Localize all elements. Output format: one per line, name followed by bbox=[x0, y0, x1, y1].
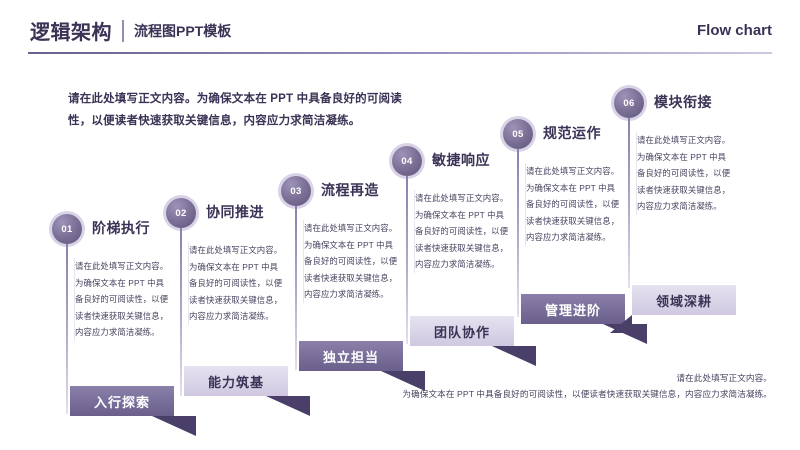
ribbon-bar: 入行探索 bbox=[70, 386, 174, 416]
step-body-card: 请在此处填写正文内容。为确保文本在 PPT 中具备良好的可阅读性，以便读者快速获… bbox=[525, 163, 622, 246]
step-ribbon-05[interactable]: 管理进阶 bbox=[521, 294, 625, 324]
header-right-label: Flow chart bbox=[697, 22, 772, 39]
step-body-card: 请在此处填写正文内容。为确保文本在 PPT 中具备良好的可阅读性，以便读者快速获… bbox=[74, 258, 171, 341]
header-divider bbox=[122, 20, 124, 42]
step-number-label: 01 bbox=[61, 224, 72, 235]
step-title: 流程再造 bbox=[321, 180, 379, 200]
step-number-label: 04 bbox=[401, 156, 412, 167]
page-subtitle: 流程图PPT模板 bbox=[134, 21, 231, 41]
step-connector-stem bbox=[295, 206, 297, 370]
header-rule bbox=[28, 52, 772, 54]
step-number-badge[interactable]: 05 bbox=[503, 119, 533, 149]
step-connector-stem bbox=[66, 244, 68, 414]
step-ribbon-04[interactable]: 团队协作 bbox=[410, 316, 514, 346]
ribbon-bar: 能力筑基 bbox=[184, 366, 288, 396]
ribbon-bar: 独立担当 bbox=[299, 341, 403, 371]
step-number-label: 02 bbox=[175, 208, 186, 219]
step-title: 阶梯执行 bbox=[92, 218, 150, 238]
ribbon-label: 能力筑基 bbox=[208, 372, 264, 391]
step-connector-stem bbox=[628, 118, 630, 288]
step-number-label: 03 bbox=[290, 186, 301, 197]
step-body-card: 请在此处填写正文内容。为确保文本在 PPT 中具备良好的可阅读性，以便读者快速获… bbox=[303, 220, 400, 303]
footnote-line-2: 为确保文本在 PPT 中具备良好的可阅读性，以便读者快速获取关键信息，内容应力求… bbox=[402, 388, 772, 400]
step-title: 规范运作 bbox=[543, 123, 601, 143]
step-number-badge[interactable]: 03 bbox=[281, 176, 311, 206]
ribbon-bar: 管理进阶 bbox=[521, 294, 625, 324]
step-connector-stem bbox=[180, 228, 182, 396]
step-title: 模块衔接 bbox=[654, 92, 712, 112]
step-body-card: 请在此处填写正文内容。为确保文本在 PPT 中具备良好的可阅读性，以便读者快速获… bbox=[414, 190, 511, 273]
step-body-text: 请在此处填写正文内容。为确保文本在 PPT 中具备良好的可阅读性，以便读者快速获… bbox=[637, 132, 733, 215]
ribbon-fold bbox=[492, 346, 536, 366]
step-number-label: 05 bbox=[512, 129, 523, 140]
step-body-text: 请在此处填写正文内容。为确保文本在 PPT 中具备良好的可阅读性，以便读者快速获… bbox=[304, 220, 400, 303]
step-title: 敏捷响应 bbox=[432, 150, 490, 170]
step-number-badge[interactable]: 06 bbox=[614, 88, 644, 118]
ribbon-label: 团队协作 bbox=[434, 322, 490, 341]
step-number-badge[interactable]: 02 bbox=[166, 198, 196, 228]
ribbon-label: 入行探索 bbox=[94, 392, 150, 411]
step-number-badge[interactable]: 04 bbox=[392, 146, 422, 176]
step-ribbon-02[interactable]: 能力筑基 bbox=[184, 366, 288, 396]
step-body-card: 请在此处填写正文内容。为确保文本在 PPT 中具备良好的可阅读性，以便读者快速获… bbox=[188, 242, 285, 325]
footnote-line-1: 请在此处填写正文内容。 bbox=[676, 372, 772, 384]
step-body-card: 请在此处填写正文内容。为确保文本在 PPT 中具备良好的可阅读性，以便读者快速获… bbox=[636, 132, 733, 215]
header-title-group: 逻辑架构 流程图PPT模板 bbox=[30, 16, 231, 45]
step-ribbon-06[interactable]: 领域深耕 bbox=[632, 285, 736, 315]
step-ribbon-01[interactable]: 入行探索 bbox=[70, 386, 174, 416]
step-number-label: 06 bbox=[623, 98, 634, 109]
step-connector-stem bbox=[406, 176, 408, 344]
ribbon-fold bbox=[152, 416, 196, 436]
step-title: 协同推进 bbox=[206, 202, 264, 222]
step-number-badge[interactable]: 01 bbox=[52, 214, 82, 244]
step-ribbon-03[interactable]: 独立担当 bbox=[299, 341, 403, 371]
ribbon-bar: 团队协作 bbox=[410, 316, 514, 346]
step-body-text: 请在此处填写正文内容。为确保文本在 PPT 中具备良好的可阅读性，以便读者快速获… bbox=[75, 258, 171, 341]
step-connector-stem bbox=[517, 149, 519, 317]
page-header: 逻辑架构 流程图PPT模板 Flow chart bbox=[0, 0, 800, 56]
page-title: 逻辑架构 bbox=[30, 16, 112, 45]
step-body-text: 请在此处填写正文内容。为确保文本在 PPT 中具备良好的可阅读性，以便读者快速获… bbox=[415, 190, 511, 273]
ribbon-label: 领域深耕 bbox=[656, 291, 712, 310]
step-body-text: 请在此处填写正文内容。为确保文本在 PPT 中具备良好的可阅读性，以便读者快速获… bbox=[189, 242, 285, 325]
step-body-text: 请在此处填写正文内容。为确保文本在 PPT 中具备良好的可阅读性，以便读者快速获… bbox=[526, 163, 622, 246]
ribbon-bar: 领域深耕 bbox=[632, 285, 736, 315]
ribbon-label: 独立担当 bbox=[323, 347, 379, 366]
ribbon-label: 管理进阶 bbox=[545, 300, 601, 319]
ribbon-fold bbox=[266, 396, 310, 416]
intro-paragraph: 请在此处填写正文内容。为确保文本在 PPT 中具备良好的可阅读性，以便读者快速获… bbox=[68, 88, 406, 132]
